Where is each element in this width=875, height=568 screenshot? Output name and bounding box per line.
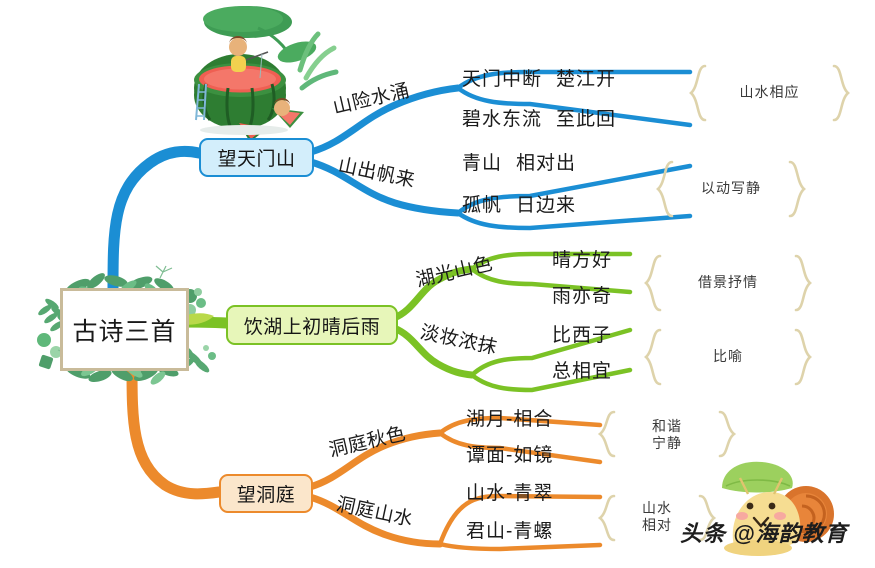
topic-label: 饮湖上初晴后雨 bbox=[244, 312, 381, 339]
leaf-green-2a[interactable]: 比西子 bbox=[552, 320, 612, 347]
watermelon-pool-illustration bbox=[194, 6, 336, 142]
topic-label: 望洞庭 bbox=[237, 480, 296, 507]
leaf-text-a: 天门中断 bbox=[462, 69, 542, 90]
watermark-text: 头条 @海韵教育 bbox=[680, 516, 848, 548]
leaf-blue-1a[interactable]: 天门中断楚江开 bbox=[462, 64, 616, 91]
brace-left-green-1 bbox=[646, 256, 660, 310]
branch-label-blue-1[interactable]: 山险水涌 bbox=[330, 76, 412, 120]
brace-left-orange-2 bbox=[600, 496, 614, 540]
branch-label-orange-2[interactable]: 洞庭山水 bbox=[334, 489, 416, 532]
branch-label-green-1[interactable]: 湖光山色 bbox=[413, 249, 495, 293]
leaf-text-a: 山水-青翠 bbox=[466, 483, 553, 504]
leaf-green-1a[interactable]: 晴方好 bbox=[552, 245, 612, 272]
note-blue-2: 以动写静 bbox=[672, 174, 790, 204]
leaf-text-a: 雨亦奇 bbox=[552, 286, 612, 307]
brace-left-green-2 bbox=[646, 330, 660, 384]
leaf-text-a: 谭面-如镜 bbox=[466, 445, 553, 466]
branch-label-orange-1[interactable]: 洞庭秋色 bbox=[326, 419, 408, 463]
leaf-text-a: 碧水东流 bbox=[462, 109, 542, 130]
leaf-blue-1b[interactable]: 碧水东流至此回 bbox=[462, 104, 616, 131]
leaf-text-b: 至此回 bbox=[556, 109, 616, 130]
brace-right-green-2 bbox=[796, 330, 810, 384]
brace-right-green-1 bbox=[796, 256, 810, 310]
leaf-blue-2a[interactable]: 青山相对出 bbox=[462, 148, 576, 175]
leaf-orange-2b[interactable]: 君山-青螺 bbox=[466, 516, 553, 543]
center-node[interactable]: 古诗三首 bbox=[60, 288, 189, 371]
topic-node-wang-tian-men-shan[interactable]: 望天门山 bbox=[199, 138, 314, 177]
leaf-text-a: 湖月-相合 bbox=[466, 409, 553, 430]
note-green-2: 比喻 bbox=[660, 342, 796, 372]
leaf-green-1b[interactable]: 雨亦奇 bbox=[552, 281, 612, 308]
topic-node-wang-dong-ting[interactable]: 望洞庭 bbox=[219, 474, 313, 513]
leaf-orange-1a[interactable]: 湖月-相合 bbox=[466, 404, 553, 431]
branch-label-blue-2[interactable]: 山出帆来 bbox=[336, 150, 418, 193]
leaf-orange-2a[interactable]: 山水-青翠 bbox=[466, 478, 553, 505]
leaf-text-a: 孤帆 bbox=[462, 195, 502, 216]
note-blue-1: 山水相应 bbox=[705, 78, 834, 108]
brace-right-orange-1 bbox=[720, 412, 734, 456]
center-node-title: 古诗三首 bbox=[72, 312, 176, 348]
branch-label-green-2[interactable]: 淡妆浓抹 bbox=[418, 317, 500, 360]
note-orange-1: 和谐 宁静 bbox=[614, 418, 720, 452]
brace-left-blue-2 bbox=[658, 162, 672, 216]
leaf-text-b: 日边来 bbox=[516, 195, 576, 216]
leaf-text-a: 青山 bbox=[462, 153, 502, 174]
brace-right-blue-2 bbox=[790, 162, 804, 216]
orange-trunk bbox=[132, 366, 219, 494]
brace-left-blue-1 bbox=[691, 66, 705, 120]
note-green-1: 借景抒情 bbox=[660, 268, 796, 298]
blue-trunk bbox=[113, 151, 199, 290]
mindmap-canvas: 古诗三首 望天门山 饮湖上初晴后雨 望洞庭 山险水涌 山出帆来 湖光山色 淡妆浓… bbox=[0, 0, 875, 568]
leaf-text-a: 总相宜 bbox=[552, 361, 612, 382]
leaf-text-a: 晴方好 bbox=[552, 250, 612, 271]
brace-left-orange-1 bbox=[600, 412, 614, 456]
leaf-text-b: 楚江开 bbox=[556, 69, 616, 90]
leaf-green-2b[interactable]: 总相宜 bbox=[552, 356, 612, 383]
leaf-text-a: 君山-青螺 bbox=[466, 521, 553, 542]
orange-leaf-2b bbox=[440, 544, 600, 549]
leaf-text-a: 比西子 bbox=[552, 325, 612, 346]
topic-label: 望天门山 bbox=[217, 144, 295, 171]
leaf-blue-2b[interactable]: 孤帆日边来 bbox=[462, 190, 576, 217]
leaf-text-b: 相对出 bbox=[516, 153, 576, 174]
topic-node-yin-hu-shang[interactable]: 饮湖上初晴后雨 bbox=[226, 305, 398, 345]
brace-right-blue-1 bbox=[834, 66, 848, 120]
leaf-orange-1b[interactable]: 谭面-如镜 bbox=[466, 440, 553, 467]
